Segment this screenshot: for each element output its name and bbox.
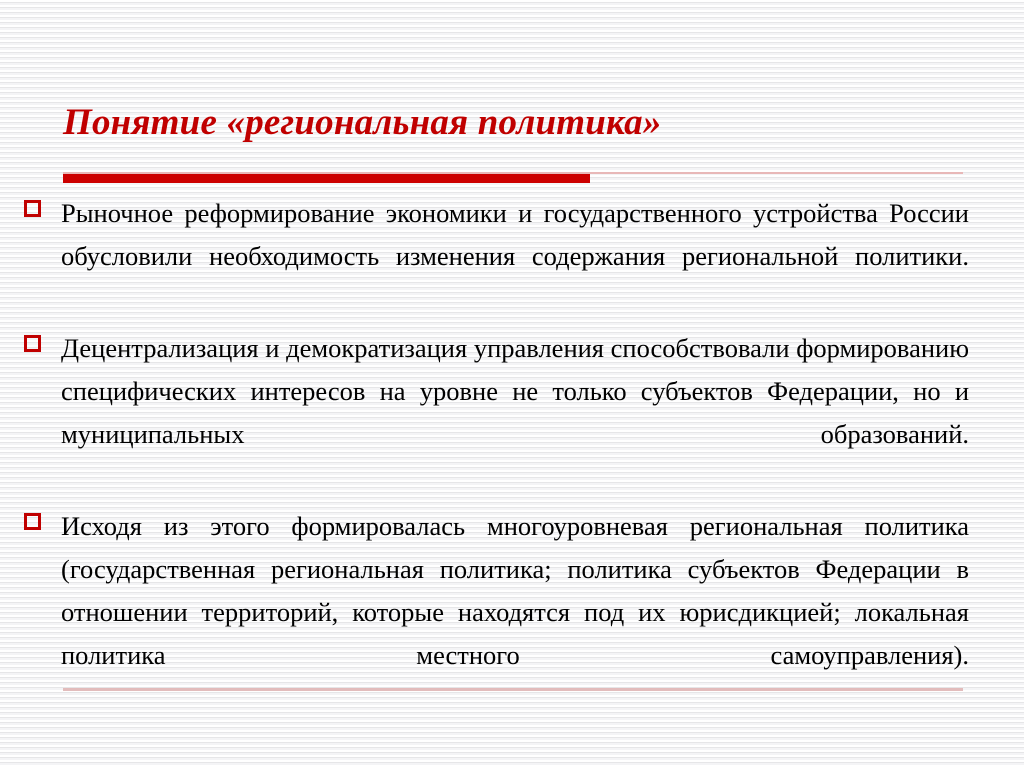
list-item-text: Децентрализация и демократизация управле… bbox=[61, 327, 969, 499]
title-divider-thick-rule bbox=[63, 174, 590, 183]
presentation-slide: Понятие «региональная политика» Рыночное… bbox=[0, 0, 1024, 767]
list-item-text: Рыночное реформирование экономики и госу… bbox=[61, 192, 969, 321]
hollow-square-bullet-icon bbox=[24, 335, 41, 352]
list-item: Рыночное реформирование экономики и госу… bbox=[24, 192, 969, 321]
hollow-square-bullet-icon bbox=[24, 513, 41, 530]
hollow-square-bullet-icon bbox=[24, 200, 41, 217]
bullet-list: Рыночное реформирование экономики и госу… bbox=[24, 192, 969, 726]
bottom-divider-rule bbox=[63, 688, 963, 691]
list-item: Децентрализация и демократизация управле… bbox=[24, 327, 969, 499]
slide-title-block: Понятие «региональная политика» bbox=[63, 100, 963, 146]
page-title: Понятие «региональная политика» bbox=[63, 100, 963, 146]
title-divider bbox=[63, 170, 963, 183]
